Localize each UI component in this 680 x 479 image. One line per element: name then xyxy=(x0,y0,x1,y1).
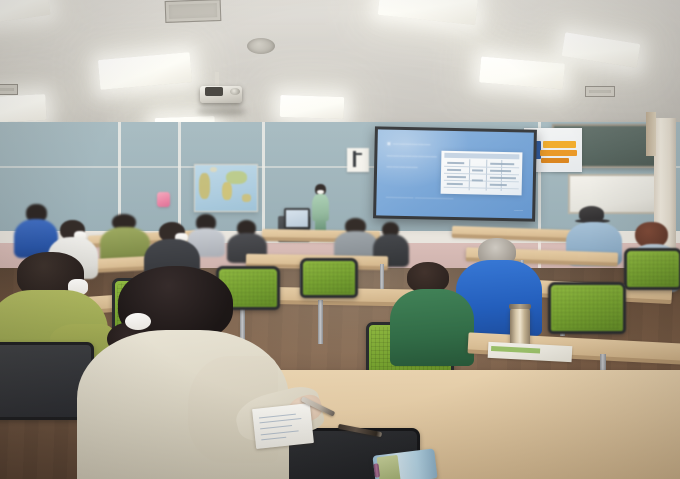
chair-mesh xyxy=(629,253,677,285)
ceiling-vent-2 xyxy=(0,84,18,95)
chair-mesh xyxy=(553,287,621,329)
ceiling-vent-1 xyxy=(165,0,222,23)
presenter-torso xyxy=(312,194,329,222)
notepad[interactable] xyxy=(252,403,314,449)
seminar-room-photo: ■ —————— ———————— ————— xyxy=(0,0,680,479)
attendee-green-tee xyxy=(390,262,474,358)
chair-mesh xyxy=(305,263,353,293)
ceiling-projector xyxy=(200,86,242,112)
projector-lens xyxy=(230,88,240,95)
slide-table-text-1 xyxy=(447,162,465,164)
presenter xyxy=(311,184,331,232)
slide-table-text-3 xyxy=(447,176,466,178)
notepad-line-3 xyxy=(260,425,292,429)
attendee-olive-jacket-left xyxy=(100,214,150,262)
attendee-foreground-cream-sweater xyxy=(88,266,274,479)
slide-table-text-6 xyxy=(490,170,511,172)
chair-6[interactable] xyxy=(624,248,680,290)
projector-shadow xyxy=(197,107,246,116)
poster-block-yellow-1 xyxy=(543,141,577,148)
notepad-line-1 xyxy=(259,413,296,418)
thermos-lid xyxy=(509,304,531,309)
notepad-line-2 xyxy=(259,418,301,423)
map-landmass-americas xyxy=(199,173,210,199)
chair-3[interactable] xyxy=(300,258,358,298)
figure-poster xyxy=(347,148,369,172)
chair-backrest xyxy=(624,248,680,290)
screen-surface: ■ —————— ———————— ————— xyxy=(376,129,534,218)
chair-5[interactable] xyxy=(548,282,626,334)
chair-backrest xyxy=(300,258,358,298)
wall-decal-sticker xyxy=(157,192,170,207)
notepad-line-4 xyxy=(261,430,299,435)
slide-table-col-1 xyxy=(468,160,470,191)
monitor-front xyxy=(284,208,310,229)
poster-block-yellow-2 xyxy=(540,150,577,156)
slide-table-text-10 xyxy=(472,179,483,181)
monitor-front-screen xyxy=(286,210,308,227)
map-landmass-australia xyxy=(242,194,251,201)
slide-footer-text: ————— ——————— xyxy=(386,194,467,202)
slide-table-text-8 xyxy=(489,183,507,185)
ceiling-vent-5 xyxy=(585,86,615,97)
projector-body xyxy=(200,86,242,103)
panel-light-3 xyxy=(0,94,47,124)
slide-table-row-4 xyxy=(444,187,519,190)
map-landmass-africa xyxy=(222,182,232,200)
slide-table-text-7 xyxy=(490,176,516,179)
slide-table-text-4 xyxy=(446,182,462,184)
desk-leg-4 xyxy=(318,300,323,344)
slide-table-text-2 xyxy=(447,169,462,171)
panel-light-5 xyxy=(280,95,345,119)
map-landmass-greenland xyxy=(210,167,217,173)
handout-green-band xyxy=(491,346,540,353)
slide-page-number: —— xyxy=(514,207,523,212)
wall-pillar-right-edge xyxy=(646,112,656,156)
bottle-label xyxy=(376,455,400,479)
slide-table-text-5 xyxy=(490,163,514,166)
projector-vent-grille xyxy=(205,87,223,96)
slide-table-text-9 xyxy=(472,169,483,171)
slide-table-header xyxy=(445,153,520,159)
ceiling-speaker xyxy=(247,38,275,54)
world-map-poster xyxy=(194,164,258,212)
projection-screen: ■ —————— ———————— ————— xyxy=(373,126,537,221)
slide-embedded-table xyxy=(441,150,523,195)
chair-backrest xyxy=(548,282,626,334)
figure-poster-silhouette-arm xyxy=(355,153,362,155)
map-landmass-eurasia xyxy=(226,171,247,185)
poster-block-yellow-3 xyxy=(541,158,569,163)
slide-table-col-2 xyxy=(486,160,488,191)
torso xyxy=(390,289,474,366)
notepad-line-5 xyxy=(261,437,286,441)
